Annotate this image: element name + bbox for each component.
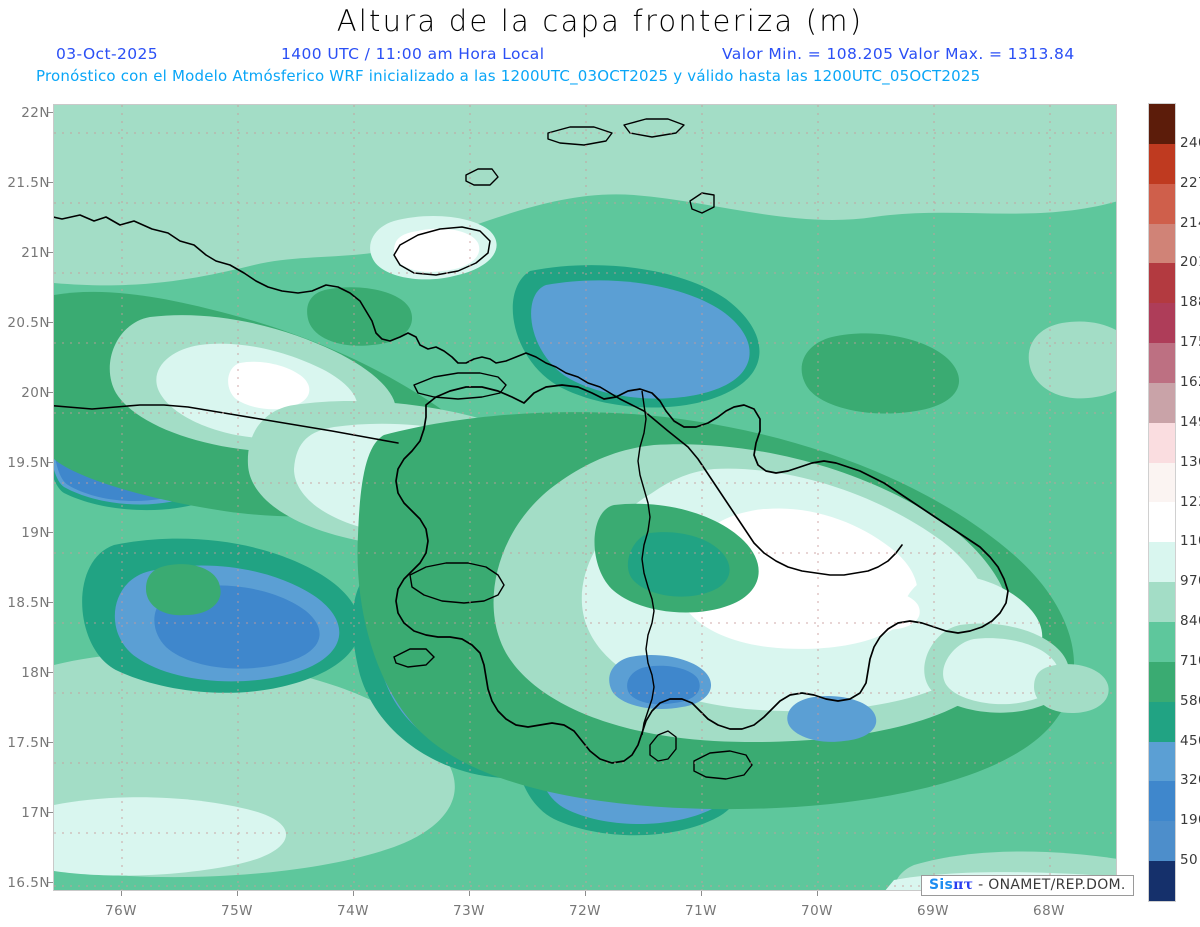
ylabel-0: 22N xyxy=(21,105,50,121)
logo-pi-icon: πτ xyxy=(953,877,973,893)
xlabel-7: 69W xyxy=(917,903,949,919)
ylabel-6: 19N xyxy=(21,525,50,541)
colorbar-tick-1360: 1360 xyxy=(1180,454,1200,470)
colorbar-band-5 xyxy=(1149,303,1175,343)
colorbar-band-9 xyxy=(1149,463,1175,503)
colorbar-tick-450: 450 xyxy=(1180,733,1200,749)
colorbar-tick-320: 320 xyxy=(1180,772,1200,788)
boundary-layer-height-contour-map xyxy=(54,105,1117,891)
colorbar-tick-50: 50 xyxy=(1180,852,1198,868)
xlabel-1: 75W xyxy=(221,903,253,919)
colorbar-tick-1880: 1880 xyxy=(1180,294,1200,310)
colorbar-band-19 xyxy=(1149,861,1175,901)
colorbar-tick-2140: 2140 xyxy=(1180,215,1200,231)
colorbar-band-0 xyxy=(1149,104,1175,144)
xlabel-8: 68W xyxy=(1033,903,1065,919)
colorbar-tick-2400: 2400 xyxy=(1180,135,1200,151)
logo-org-text: - ONAMET/REP.DOM. xyxy=(978,877,1125,893)
colorbar-tick-1490: 1490 xyxy=(1180,414,1200,430)
colorbar-band-7 xyxy=(1149,383,1175,423)
colorbar-band-2 xyxy=(1149,184,1175,224)
colorbar-band-4 xyxy=(1149,263,1175,303)
colorbar-band-10 xyxy=(1149,502,1175,542)
forecast-time: 1400 UTC / 11:00 am Hora Local xyxy=(281,45,544,63)
colorbar-band-6 xyxy=(1149,343,1175,383)
agency-logo: Sisπτ - ONAMET/REP.DOM. xyxy=(921,875,1134,896)
colorbar-band-8 xyxy=(1149,423,1175,463)
colorbar-tick-970: 970 xyxy=(1180,573,1200,589)
colorbar-tick-840: 840 xyxy=(1180,613,1200,629)
ylabel-7: 18.5N xyxy=(7,595,50,611)
colorbar-tick-1750: 1750 xyxy=(1180,334,1200,350)
ylabel-5: 19.5N xyxy=(7,455,50,471)
ylabel-10: 17N xyxy=(21,805,50,821)
model-description: Pronóstico con el Modelo Atmósferico WRF… xyxy=(36,67,980,85)
xlabel-0: 76W xyxy=(105,903,137,919)
colorbar-tick-580: 580 xyxy=(1180,693,1200,709)
colorbar-band-12 xyxy=(1149,582,1175,622)
colorbar-band-3 xyxy=(1149,224,1175,264)
logo-sis-text: Sis xyxy=(929,877,953,893)
xlabel-4: 72W xyxy=(569,903,601,919)
xlabel-5: 71W xyxy=(685,903,717,919)
ylabel-4: 20N xyxy=(21,385,50,401)
colorbar-tick-710: 710 xyxy=(1180,653,1200,669)
xlabel-6: 70W xyxy=(801,903,833,919)
colorbar-tick-2010: 2010 xyxy=(1180,254,1200,270)
ylabel-9: 17.5N xyxy=(7,735,50,751)
ylabel-8: 18N xyxy=(21,665,50,681)
map-plot-area[interactable] xyxy=(53,104,1117,891)
colorbar-band-11 xyxy=(1149,542,1175,582)
colorbar-band-18 xyxy=(1149,821,1175,861)
colorbar-band-14 xyxy=(1149,662,1175,702)
colorbar-band-16 xyxy=(1149,742,1175,782)
colorbar-tick-2270: 2270 xyxy=(1180,175,1200,191)
ylabel-11: 16.5N xyxy=(7,875,50,891)
page-title: Altura de la capa fronteriza (m) xyxy=(0,4,1200,38)
value-range-label: Valor Min. = 108.205 Valor Max. = 1313.8… xyxy=(722,45,1075,63)
xlabel-3: 73W xyxy=(453,903,485,919)
colorbar-band-13 xyxy=(1149,622,1175,662)
colorbar-tick-1230: 1230 xyxy=(1180,494,1200,510)
colorbar-tick-1100: 1100 xyxy=(1180,533,1200,549)
colorbar-tick-190: 190 xyxy=(1180,812,1200,828)
forecast-date: 03-Oct-2025 xyxy=(56,45,158,63)
ylabel-1: 21.5N xyxy=(7,175,50,191)
xlabel-2: 74W xyxy=(337,903,369,919)
colorbar-tick-1620: 1620 xyxy=(1180,374,1200,390)
colorbar[interactable] xyxy=(1148,103,1176,902)
colorbar-band-15 xyxy=(1149,702,1175,742)
ylabel-3: 20.5N xyxy=(7,315,50,331)
colorbar-band-1 xyxy=(1149,144,1175,184)
ylabel-2: 21N xyxy=(21,245,50,261)
colorbar-band-17 xyxy=(1149,781,1175,821)
